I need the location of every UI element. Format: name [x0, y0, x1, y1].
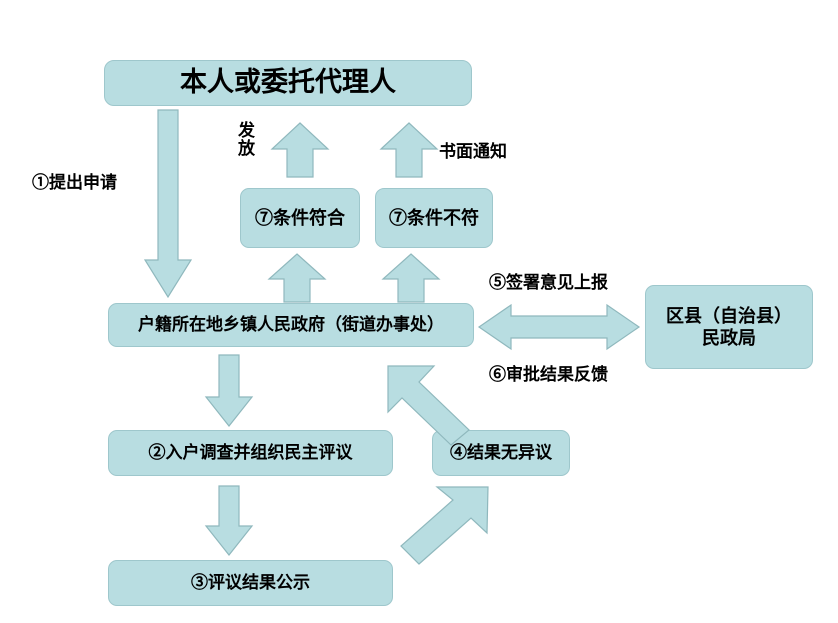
- edge-label-approval-feedback: ⑥审批结果反馈: [489, 360, 608, 385]
- arrow-applicant-to-township: [144, 110, 192, 298]
- edge-label-issue-text: 发放: [238, 121, 255, 158]
- edge-label-sign-opinion-report-text: ⑤签署意见上报: [489, 273, 608, 292]
- arrow-township-to-survey: [205, 355, 253, 427]
- node-civil-affairs-bureau[interactable]: 区县（自治县） 民政局: [645, 285, 813, 369]
- node-household-survey-label: ②入户调查并组织民主评议: [149, 442, 353, 463]
- arrow-township-civil-affairs: [478, 303, 640, 351]
- node-applicant[interactable]: 本人或委托代理人: [104, 60, 472, 106]
- edge-label-submit-application-text: ①提出申请: [32, 173, 117, 192]
- arrow-unqualified-to-applicant: [380, 122, 438, 178]
- edge-label-written-notice: 书面通知: [439, 137, 507, 162]
- arrow-township-to-unqualified: [382, 253, 440, 303]
- arrow-publicity-to-no-objection: [388, 483, 498, 568]
- edge-label-submit-application: ①提出申请: [32, 168, 117, 193]
- node-township-government[interactable]: 户籍所在地乡镇人民政府（街道办事处）: [108, 303, 474, 347]
- arrow-no-objection-to-township: [368, 362, 476, 446]
- node-applicant-label: 本人或委托代理人: [180, 66, 396, 100]
- node-publicity-result[interactable]: ③评议结果公示: [108, 560, 393, 606]
- node-qualified-label: ⑦条件符合: [255, 207, 345, 230]
- edge-label-approval-feedback-text: ⑥审批结果反馈: [489, 365, 608, 384]
- node-qualified[interactable]: ⑦条件符合: [240, 188, 360, 248]
- arrow-survey-to-publicity: [205, 486, 253, 556]
- arrow-township-to-qualified: [268, 253, 326, 303]
- node-civil-affairs-bureau-label-line1: 区县（自治县）: [666, 305, 792, 328]
- node-civil-affairs-bureau-label-line2: 民政局: [702, 327, 756, 350]
- edge-label-sign-opinion-report: ⑤签署意见上报: [489, 268, 608, 293]
- node-unqualified[interactable]: ⑦条件不符: [375, 188, 493, 248]
- node-publicity-result-label: ③评议结果公示: [191, 572, 310, 593]
- edge-label-issue: 发放: [238, 122, 255, 158]
- node-unqualified-label: ⑦条件不符: [389, 207, 479, 230]
- edge-label-written-notice-text: 书面通知: [439, 142, 507, 161]
- arrow-qualified-to-applicant: [271, 122, 329, 178]
- flowchart-canvas: 本人或委托代理人 ⑦条件符合 ⑦条件不符 户籍所在地乡镇人民政府（街道办事处） …: [0, 0, 838, 623]
- node-township-government-label: 户籍所在地乡镇人民政府（街道办事处）: [138, 314, 444, 335]
- node-household-survey[interactable]: ②入户调查并组织民主评议: [108, 430, 393, 476]
